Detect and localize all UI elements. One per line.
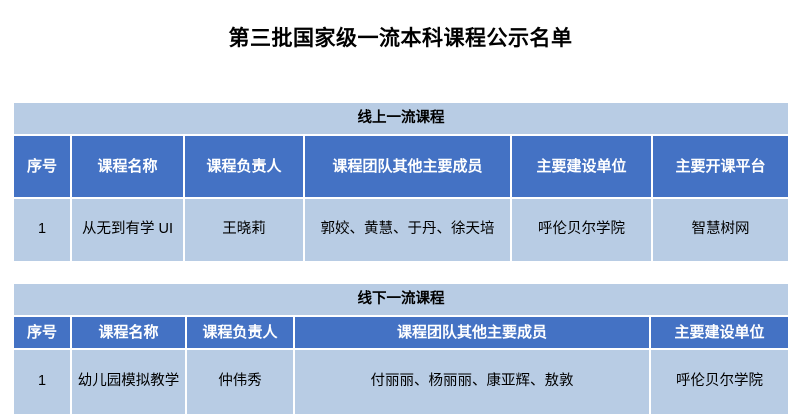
table-offline-band-title: 线下一流课程 — [14, 284, 788, 317]
table-online-band-title-row: 线上一流课程 — [14, 103, 788, 136]
table-online-header-row: 序号 课程名称 课程负责人 课程团队其他主要成员 主要建设单位 主要开课平台 — [14, 136, 788, 199]
table-online-courses: 线上一流课程 序号 课程名称 课程负责人 课程团队其他主要成员 主要建设单位 主… — [14, 103, 788, 261]
column-header-team: 课程团队其他主要成员 — [295, 317, 651, 350]
table-offline-courses: 线下一流课程 序号 课程名称 课程负责人 课程团队其他主要成员 主要建设单位 1… — [14, 284, 788, 414]
table-offline-header-row: 序号 课程名称 课程负责人 课程团队其他主要成员 主要建设单位 — [14, 317, 788, 350]
table-offline-band-title-row: 线下一流课程 — [14, 284, 788, 317]
column-header-course-name: 课程名称 — [72, 136, 185, 199]
column-header-leader: 课程负责人 — [187, 317, 295, 350]
table-online-band-title: 线上一流课程 — [14, 103, 788, 136]
cell-leader: 王晓莉 — [185, 199, 305, 261]
cell-team: 郭姣、黄慧、于丹、徐天培 — [305, 199, 512, 261]
cell-leader: 仲伟秀 — [187, 350, 295, 414]
cell-platform: 智慧树网 — [653, 199, 788, 261]
cell-no: 1 — [14, 199, 72, 261]
table-row: 1 幼儿园模拟教学 仲伟秀 付丽丽、杨丽丽、康亚辉、敖敦 呼伦贝尔学院 — [14, 350, 788, 414]
page-title: 第三批国家级一流本科课程公示名单 — [0, 22, 801, 52]
cell-team: 付丽丽、杨丽丽、康亚辉、敖敦 — [295, 350, 651, 414]
cell-institution: 呼伦贝尔学院 — [512, 199, 653, 261]
column-header-no: 序号 — [14, 317, 72, 350]
cell-no: 1 — [14, 350, 72, 414]
cell-course-name: 从无到有学 UI — [72, 199, 185, 261]
column-header-course-name: 课程名称 — [72, 317, 187, 350]
cell-institution: 呼伦贝尔学院 — [651, 350, 788, 414]
document-page: 第三批国家级一流本科课程公示名单 线上一流课程 序号 课程名称 课程负责人 课程… — [0, 0, 801, 414]
column-header-platform: 主要开课平台 — [653, 136, 788, 199]
table-row: 1 从无到有学 UI 王晓莉 郭姣、黄慧、于丹、徐天培 呼伦贝尔学院 智慧树网 — [14, 199, 788, 261]
column-header-no: 序号 — [14, 136, 72, 199]
column-header-leader: 课程负责人 — [185, 136, 305, 199]
column-header-institution: 主要建设单位 — [512, 136, 653, 199]
cell-course-name: 幼儿园模拟教学 — [72, 350, 187, 414]
column-header-team: 课程团队其他主要成员 — [305, 136, 512, 199]
column-header-institution: 主要建设单位 — [651, 317, 788, 350]
